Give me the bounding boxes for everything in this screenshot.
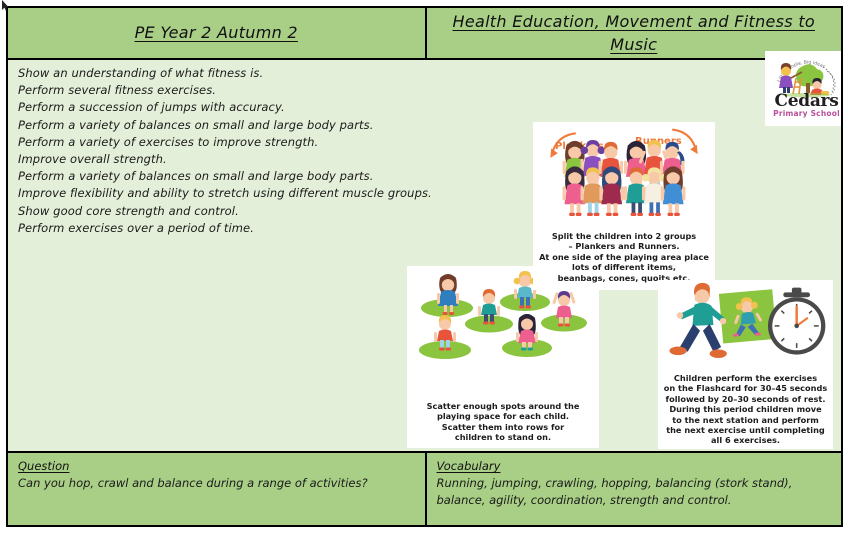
objective-item: Improve flexibility and ability to stret… [18,185,438,202]
school-logo-name: Cedars [765,91,843,111]
objective-item: Show an understanding of what fitness is… [18,65,438,82]
school-logo-subtitle: Primary School [765,109,843,118]
main-content: Show an understanding of what fitness is… [8,60,841,453]
vocabulary-heading: Vocabulary [437,459,832,473]
objective-item: Perform a succession of jumps with accur… [18,99,438,116]
vocabulary-line-1: Running, jumping, crawling, hopping, bal… [437,475,832,492]
objective-item: Improve overall strength. [18,151,438,168]
objectives-ul: Show an understanding of what fitness is… [18,65,438,237]
page-title-right: Health Education, Movement and Fitness t… [433,10,836,56]
page-title-left: PE Year 2 Autumn 2 [135,21,298,44]
image-card-flashcard-timing: Children perform the exercises on the Fl… [658,280,833,449]
flashcard-timing-caption: Children perform the exercises on the Fl… [658,373,833,449]
image-card-plankers-runners: Plankers Runners [533,122,715,290]
objective-item: Perform a variety of exercises to improv… [18,134,438,151]
objectives-list: Show an understanding of what fitness is… [18,65,438,237]
objective-item: Perform exercises over a period of time. [18,220,438,237]
plankers-runners-caption: Split the children into 2 groups – Plank… [533,231,715,286]
school-logo: Little people, Big ideas [765,51,843,126]
knowledge-organiser-page: PE Year 2 Autumn 2 Health Education, Mov… [6,6,843,527]
vocabulary-line-2: balance, agility, coordination, strength… [437,492,832,509]
footer-cell-question: Question Can you hop, crawl and balance … [8,453,425,527]
question-text: Can you hop, crawl and balance during a … [18,475,415,492]
plankers-runners-illustration [533,122,715,226]
question-heading: Question [18,459,415,473]
image-card-scatter-spots: Scatter enough spots around the playing … [407,266,599,448]
header: PE Year 2 Autumn 2 Health Education, Mov… [8,8,841,60]
footer-cell-vocabulary: Vocabulary Running, jumping, crawling, h… [425,453,842,527]
objective-item: Perform several fitness exercises. [18,82,438,99]
objective-item: Perform a variety of balances on small a… [18,168,438,185]
objective-item: Show good core strength and control. [18,203,438,220]
scatter-spots-caption: Scatter enough spots around the playing … [407,401,599,446]
header-cell-subject: PE Year 2 Autumn 2 [8,8,425,58]
objective-item: Perform a variety of balances on small a… [18,117,438,134]
flashcard-stopwatch-illustration [658,280,833,368]
mouse-cursor-icon [2,0,9,11]
footer: Question Can you hop, crawl and balance … [8,453,841,527]
